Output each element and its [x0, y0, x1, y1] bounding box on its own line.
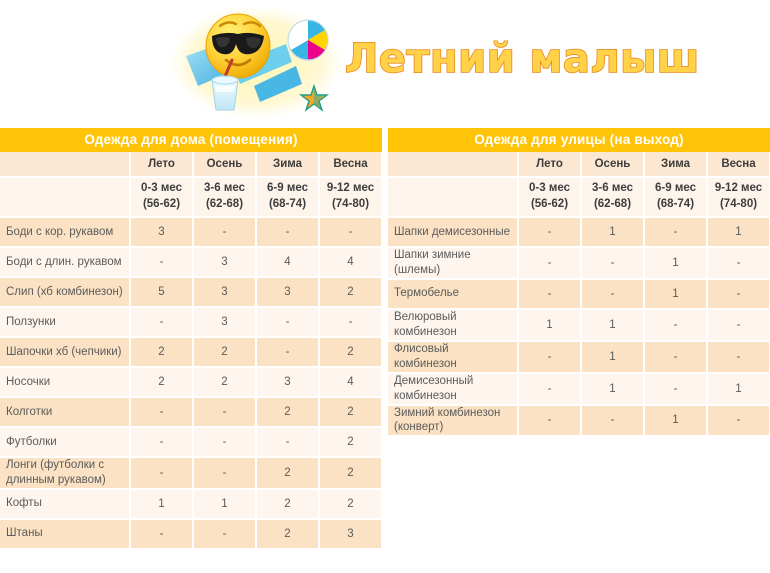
row-value-spring: 3: [319, 519, 382, 549]
row-value-summer: -: [518, 247, 581, 279]
age-line2: (56-62): [531, 198, 568, 210]
row-value-autumn: -: [193, 217, 256, 247]
row-value-autumn: 3: [193, 247, 256, 277]
sunglasses-smiley-beach-icon: [168, 2, 348, 120]
row-label: Футболки: [0, 427, 130, 457]
age-line1: 6-9 мес: [267, 182, 308, 194]
page-title: Летний малыш: [345, 36, 700, 82]
table-row: Шапочки хб (чепчики) 2 2 - 2: [0, 337, 382, 367]
row-value-winter: 3: [256, 367, 319, 397]
age-line1: 9-12 мес: [327, 182, 374, 194]
row-value-autumn: -: [193, 427, 256, 457]
table-row: Зимний комбинезон (конверт) - - 1 -: [388, 405, 770, 437]
outdoor-clothing-table-block: Одежда для улицы (на выход) Лето Осень З…: [388, 128, 770, 550]
table-row: Лонги (футболки с длинным рукавом) - - 2…: [0, 457, 382, 489]
row-label: Шапочки хб (чепчики): [0, 337, 130, 367]
row-value-spring: 1: [707, 217, 770, 247]
age-line1: 0-3 мес: [529, 182, 570, 194]
row-value-winter: -: [644, 373, 707, 405]
season-header-autumn: Осень: [193, 152, 256, 177]
row-value-spring: 4: [319, 367, 382, 397]
row-value-spring: -: [707, 247, 770, 279]
row-value-spring: 2: [319, 397, 382, 427]
home-clothing-table: Одежда для дома (помещения) Лето Осень З…: [0, 128, 383, 550]
row-value-summer: -: [130, 457, 193, 489]
row-value-spring: 4: [319, 247, 382, 277]
row-value-spring: -: [707, 405, 770, 437]
season-header-blank: [0, 152, 130, 177]
row-value-spring: -: [707, 309, 770, 341]
row-value-spring: 2: [319, 277, 382, 307]
row-value-summer: -: [518, 279, 581, 309]
row-value-spring: -: [707, 341, 770, 373]
age-line1: 0-3 мес: [141, 182, 182, 194]
row-value-autumn: 2: [193, 337, 256, 367]
age-line2: (68-74): [657, 198, 694, 210]
age-line1: 3-6 мес: [592, 182, 633, 194]
table-banner-row: Одежда для дома (помещения): [0, 128, 382, 152]
age-line2: (74-80): [720, 198, 757, 210]
row-value-summer: -: [130, 397, 193, 427]
row-value-winter: -: [256, 307, 319, 337]
row-value-summer: 5: [130, 277, 193, 307]
row-value-autumn: -: [193, 397, 256, 427]
age-line1: 6-9 мес: [655, 182, 696, 194]
outdoor-table-banner: Одежда для улицы (на выход): [388, 128, 770, 152]
row-value-summer: 2: [130, 367, 193, 397]
age-line1: 9-12 мес: [715, 182, 762, 194]
row-label: Лонги (футболки с длинным рукавом): [0, 457, 130, 489]
age-line1: 3-6 мес: [204, 182, 245, 194]
row-value-summer: -: [130, 307, 193, 337]
row-label: Термобелье: [388, 279, 518, 309]
row-value-winter: 1: [644, 405, 707, 437]
age-header-3-6: 3-6 мес (62-68): [193, 177, 256, 217]
row-value-summer: 1: [518, 309, 581, 341]
table-row: Флисовый комбинезон - 1 - -: [388, 341, 770, 373]
row-value-summer: 1: [130, 489, 193, 519]
table-row: Боди с кор. рукавом 3 - - -: [0, 217, 382, 247]
row-value-winter: -: [644, 341, 707, 373]
row-value-summer: -: [518, 373, 581, 405]
row-label: Флисовый комбинезон: [388, 341, 518, 373]
age-header-blank: [0, 177, 130, 217]
season-header-spring: Весна: [319, 152, 382, 177]
table-row: Носочки 2 2 3 4: [0, 367, 382, 397]
row-value-autumn: -: [581, 279, 644, 309]
row-value-spring: 2: [319, 489, 382, 519]
row-label: Кофты: [0, 489, 130, 519]
age-header-row: 0-3 мес (56-62) 3-6 мес (62-68) 6-9 мес …: [388, 177, 770, 217]
table-banner-row: Одежда для улицы (на выход): [388, 128, 770, 152]
tables-container: Одежда для дома (помещения) Лето Осень З…: [0, 128, 770, 550]
season-header-row: Лето Осень Зима Весна: [388, 152, 770, 177]
row-value-winter: 2: [256, 457, 319, 489]
age-header-row: 0-3 мес (56-62) 3-6 мес (62-68) 6-9 мес …: [0, 177, 382, 217]
row-label: Носочки: [0, 367, 130, 397]
age-header-6-9: 6-9 мес (68-74): [644, 177, 707, 217]
row-value-spring: 2: [319, 337, 382, 367]
age-line2: (74-80): [332, 198, 369, 210]
season-header-summer: Лето: [518, 152, 581, 177]
row-label: Боди с длин. рукавом: [0, 247, 130, 277]
age-line2: (62-68): [206, 198, 243, 210]
season-header-autumn: Осень: [581, 152, 644, 177]
table-row: Велюровый комбинезон 1 1 - -: [388, 309, 770, 341]
row-value-winter: -: [256, 217, 319, 247]
outdoor-clothing-table: Одежда для улицы (на выход) Лето Осень З…: [388, 128, 770, 437]
page-header: Летний малыш: [0, 0, 770, 125]
row-value-summer: -: [518, 405, 581, 437]
table-row: Демисезонный комбинезон - 1 - 1: [388, 373, 770, 405]
table-row: Кофты 1 1 2 2: [0, 489, 382, 519]
season-header-blank: [388, 152, 518, 177]
age-header-3-6: 3-6 мес (62-68): [581, 177, 644, 217]
row-value-winter: -: [644, 309, 707, 341]
row-value-summer: 2: [130, 337, 193, 367]
row-value-winter: 2: [256, 519, 319, 549]
row-label: Шапки зимние (шлемы): [388, 247, 518, 279]
row-value-summer: -: [130, 427, 193, 457]
row-value-winter: 3: [256, 277, 319, 307]
row-label: Колготки: [0, 397, 130, 427]
row-value-spring: -: [707, 279, 770, 309]
table-row: Слип (хб комбинезон) 5 3 3 2: [0, 277, 382, 307]
row-value-autumn: 3: [193, 307, 256, 337]
row-value-autumn: 1: [581, 217, 644, 247]
season-header-winter: Зима: [644, 152, 707, 177]
row-label: Боди с кор. рукавом: [0, 217, 130, 247]
age-header-6-9: 6-9 мес (68-74): [256, 177, 319, 217]
row-label: Зимний комбинезон (конверт): [388, 405, 518, 437]
age-line2: (56-62): [143, 198, 180, 210]
row-value-winter: 2: [256, 397, 319, 427]
row-value-summer: -: [518, 341, 581, 373]
row-value-autumn: 1: [193, 489, 256, 519]
row-value-winter: -: [256, 337, 319, 367]
row-value-autumn: 1: [581, 341, 644, 373]
table-row: Ползунки - 3 - -: [0, 307, 382, 337]
row-value-autumn: -: [581, 247, 644, 279]
row-value-spring: 2: [319, 427, 382, 457]
table-row: Шапки зимние (шлемы) - - 1 -: [388, 247, 770, 279]
row-value-autumn: -: [193, 519, 256, 549]
row-value-autumn: 1: [581, 309, 644, 341]
row-value-winter: -: [644, 217, 707, 247]
row-value-autumn: 3: [193, 277, 256, 307]
row-value-winter: 2: [256, 489, 319, 519]
table-row: Термобелье - - 1 -: [388, 279, 770, 309]
row-value-summer: 3: [130, 217, 193, 247]
row-value-autumn: 2: [193, 367, 256, 397]
row-label: Демисезонный комбинезон: [388, 373, 518, 405]
row-value-spring: -: [319, 307, 382, 337]
season-header-summer: Лето: [130, 152, 193, 177]
age-header-blank: [388, 177, 518, 217]
row-value-winter: -: [256, 427, 319, 457]
table-row: Штаны - - 2 3: [0, 519, 382, 549]
row-label: Шапки демисезонные: [388, 217, 518, 247]
home-clothing-table-block: Одежда для дома (помещения) Лето Осень З…: [0, 128, 383, 550]
row-value-autumn: -: [193, 457, 256, 489]
age-line2: (68-74): [269, 198, 306, 210]
home-table-banner: Одежда для дома (помещения): [0, 128, 382, 152]
row-value-spring: 2: [319, 457, 382, 489]
row-value-winter: 1: [644, 279, 707, 309]
age-line2: (62-68): [594, 198, 631, 210]
row-value-summer: -: [130, 247, 193, 277]
age-header-0-3: 0-3 мес (56-62): [130, 177, 193, 217]
row-label: Ползунки: [0, 307, 130, 337]
age-header-9-12: 9-12 мес (74-80): [707, 177, 770, 217]
table-row: Футболки - - - 2: [0, 427, 382, 457]
row-label: Велюровый комбинезон: [388, 309, 518, 341]
season-header-spring: Весна: [707, 152, 770, 177]
row-label: Штаны: [0, 519, 130, 549]
table-row: Колготки - - 2 2: [0, 397, 382, 427]
table-row: Боди с длин. рукавом - 3 4 4: [0, 247, 382, 277]
table-row: Шапки демисезонные - 1 - 1: [388, 217, 770, 247]
row-value-summer: -: [130, 519, 193, 549]
age-header-0-3: 0-3 мес (56-62): [518, 177, 581, 217]
row-value-summer: -: [518, 217, 581, 247]
row-value-spring: -: [319, 217, 382, 247]
season-header-winter: Зима: [256, 152, 319, 177]
row-value-spring: 1: [707, 373, 770, 405]
row-value-winter: 1: [644, 247, 707, 279]
row-value-winter: 4: [256, 247, 319, 277]
row-value-autumn: 1: [581, 373, 644, 405]
row-value-autumn: -: [581, 405, 644, 437]
season-header-row: Лето Осень Зима Весна: [0, 152, 382, 177]
age-header-9-12: 9-12 мес (74-80): [319, 177, 382, 217]
row-label: Слип (хб комбинезон): [0, 277, 130, 307]
